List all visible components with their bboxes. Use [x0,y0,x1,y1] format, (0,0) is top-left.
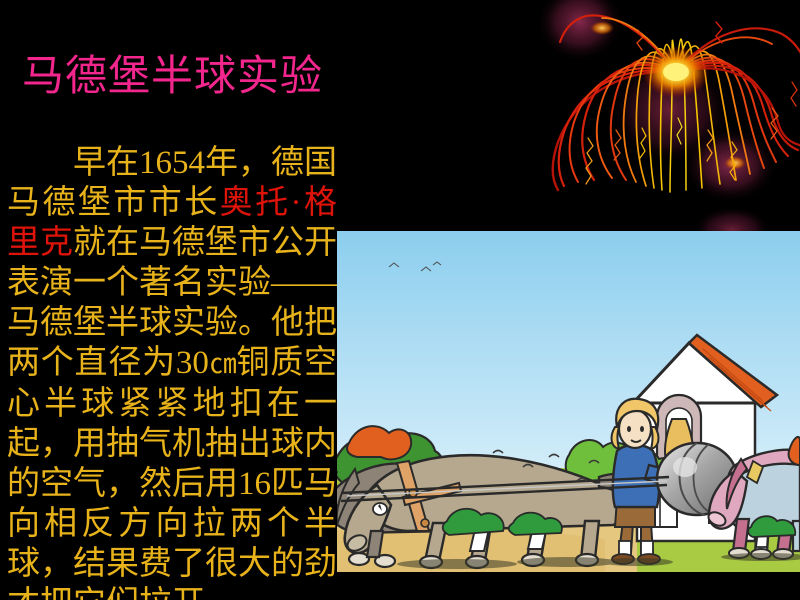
firework-core [663,63,689,81]
horse-plume [347,426,411,459]
firework-glow-blob [536,0,624,62]
firework-spark [590,21,614,35]
man-eye [640,426,644,432]
man-eye [627,426,631,432]
firework-core-glow [642,46,710,98]
slide-title: 马德堡半球实验 [22,56,323,98]
firework-glow-blob [608,54,732,166]
magdeburg-hemispheres-illustration [337,231,800,572]
firework-streamers [553,15,800,192]
slide-body-text: 早在1654年，德国马德堡市市长奥托·格里克就在马德堡市公开表演一个著名实验——… [7,143,337,600]
firework-sparkle-tails [586,22,797,184]
body-segment-3: 铜质空心半球紧紧地扣在一起，用抽气机抽出球内的空气，然后用16匹马向相反方向拉两… [7,345,337,600]
firework-spark [724,156,746,170]
firework-glow-blob [682,127,778,203]
sphere-highlight [673,457,697,477]
body-unit-cm: ㎝ [209,349,237,379]
presentation-slide: 马德堡半球实验 早在1654年，德国马德堡市市长奥托·格里克就在马德堡市公开表演… [0,0,800,600]
firework-burst-graphic [520,0,800,235]
